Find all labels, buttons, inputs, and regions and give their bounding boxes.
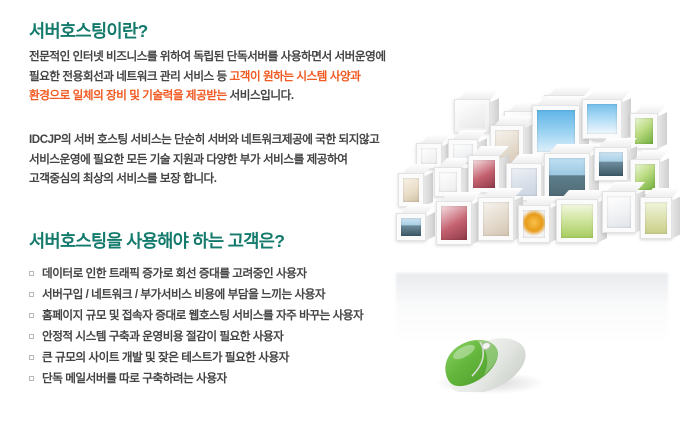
paragraph-line: IDCJP의 서버 호스팅 서비스는 단순히 서버와 네트워크제공에 국한 되지… [29,130,379,150]
paragraph-line: 환경으로 일체의 장비 및 기술력을 제공받는 서비스입니다. [29,86,386,106]
list-item: 데이터로 인한 트래픽 증가로 회선 증대를 고려중인 사용자 [29,263,363,284]
cube-photo [602,191,636,233]
paragraph-text: 필요한 전용회선과 네트워크 관리 서비스 등 [29,70,230,83]
list-item-label: 홈페이지 규모 및 접속자 증대로 웹호스팅 서비스를 자주 바꾸는 사용자 [42,309,363,322]
section-title-target-customers: 서버호스팅을 사용해야 하는 고객은? [29,228,284,253]
promo-page: 서버호스팅이란? 전문적인 인터넷 비즈니스를 위하여 독립된 단독서버를 사용… [0,0,680,425]
intro-paragraph-1: 전문적인 인터넷 비즈니스를 위하여 독립된 단독서버를 사용하면서 서버운영에… [29,47,386,106]
paragraph-line: 전문적인 인터넷 비즈니스를 위하여 독립된 단독서버를 사용하면서 서버운영에 [29,47,386,67]
cube-photo [582,99,622,139]
computer-mouse-icon [440,330,536,392]
target-customer-list: 데이터로 인한 트래픽 증가로 회선 증대를 고려중인 사용자 서버구입 / 네… [29,263,363,389]
cube-photo [630,113,658,149]
list-item: 홈페이지 규모 및 접속자 증대로 웹호스팅 서비스를 자주 바꾸는 사용자 [29,305,363,326]
bullet-square-icon [29,271,34,276]
list-item: 안정적 시스템 구축과 운영비용 절감이 필요한 사용자 [29,326,363,347]
paragraph-line: 서비스운영에 필요한 모든 기술 지원과 다양한 부가 서비스를 제공하여 [29,150,379,170]
cube-photo [396,213,426,241]
cube-photo [398,173,424,207]
cube-photo [436,201,472,245]
intro-paragraph-2: IDCJP의 서버 호스팅 서비스는 단순히 서버와 네트워크제공에 국한 되지… [29,130,379,189]
cube-photo [640,197,672,239]
list-item-label: 서버구입 / 네트워크 / 부가서비스 비용에 부담을 느끼는 사용자 [42,288,325,301]
cube-photo [594,147,628,181]
bullet-square-icon [29,292,34,297]
paragraph-line: 필요한 전용회선과 네트워크 관리 서비스 등 고객이 원하는 시스템 사양과 [29,67,386,87]
cube-photo [518,205,550,243]
page-title: 서버호스팅이란? [29,18,148,43]
list-item-label: 단독 메일서버를 따로 구축하려는 사용자 [42,372,227,385]
paragraph-line: 고객중심의 최상의 서비스를 보장 합니다. [29,169,379,189]
list-item: 단독 메일서버를 따로 구축하려는 사용자 [29,368,363,389]
bullet-square-icon [29,355,34,360]
cube-photo [478,197,514,241]
bullet-square-icon [29,334,34,339]
bullet-square-icon [29,376,34,381]
list-item: 서버구입 / 네트워크 / 부가서비스 비용에 부담을 느끼는 사용자 [29,284,363,305]
cube-plain [454,99,490,133]
highlighted-text: 환경으로 일체의 장비 및 기술력을 제공받는 [29,89,227,102]
list-item-label: 큰 규모의 사이트 개발 및 잦은 테스트가 필요한 사용자 [42,351,289,364]
list-item-label: 안정적 시스템 구축과 운영비용 절감이 필요한 사용자 [42,330,283,343]
paragraph-text: 서비스입니다. [227,89,294,102]
bullet-square-icon [29,313,34,318]
list-item-label: 데이터로 인한 트래픽 증가로 회선 증대를 고려중인 사용자 [42,267,307,280]
highlighted-text: 고객이 원하는 시스템 사양과 [230,70,361,83]
cube-photo [556,199,598,243]
list-item: 큰 규모의 사이트 개발 및 잦은 테스트가 필요한 사용자 [29,347,363,368]
